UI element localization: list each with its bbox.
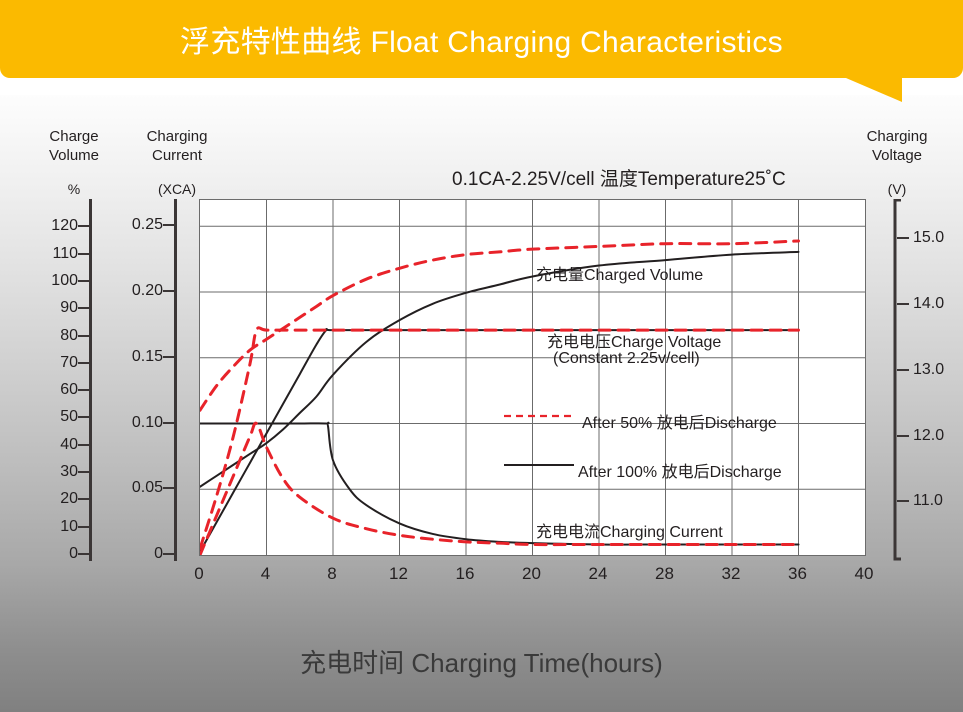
left-axis1-title: Charge Volume bbox=[24, 127, 124, 165]
x-axis-tick-label: 20 bbox=[522, 564, 541, 584]
left-axis2-title: Charging Current bbox=[127, 127, 227, 165]
right-axis-unit: (V) bbox=[872, 181, 922, 197]
left-axis2-title-line1: Charging bbox=[127, 127, 227, 146]
axis-tick bbox=[163, 553, 175, 555]
series-curve bbox=[200, 241, 799, 410]
axis-tick bbox=[163, 422, 175, 424]
condition-label: 0.1CA-2.25V/cell 温度Temperature25˚C bbox=[452, 164, 786, 191]
x-axis-tick-label: 4 bbox=[261, 564, 270, 584]
axis-tick-label: 0 bbox=[32, 545, 78, 563]
axis-tick-label: 80 bbox=[32, 327, 78, 345]
legend-swatch-100-icon bbox=[504, 462, 574, 468]
axis-tick bbox=[897, 435, 909, 437]
axis-tick bbox=[163, 290, 175, 292]
axis-tick-label: 0.25 bbox=[117, 216, 163, 234]
annotation-charge-voltage-line1: 充电电压Charge Voltage bbox=[547, 328, 721, 352]
axis-tick-label: 70 bbox=[32, 354, 78, 372]
left-axis1-title-line2: Volume bbox=[24, 146, 124, 165]
x-axis-tick-label: 28 bbox=[655, 564, 674, 584]
right-axis-title-line1: Charging bbox=[845, 127, 949, 146]
left-axis1-unit: % bbox=[44, 181, 104, 197]
axis-tick-label: 0.10 bbox=[117, 414, 163, 432]
axis-tick bbox=[78, 498, 90, 500]
axis-tick-label: 60 bbox=[32, 381, 78, 399]
axis-tick-label: 20 bbox=[32, 490, 78, 508]
axis-tick-label: 0.15 bbox=[117, 348, 163, 366]
axis-tick bbox=[897, 500, 909, 502]
x-axis-tick-label: 0 bbox=[194, 564, 203, 584]
axis-tick bbox=[78, 253, 90, 255]
chart-page: 浮充特性曲线 Float Charging Characteristics Ch… bbox=[0, 0, 963, 712]
axis-tick bbox=[78, 471, 90, 473]
axis-tick bbox=[78, 444, 90, 446]
annotation-charged-volume: 充电量Charged Volume bbox=[536, 261, 703, 285]
legend-label-after-100: After 100% 放电后Discharge bbox=[578, 458, 782, 482]
plot-area bbox=[199, 199, 866, 556]
header-banner-inner: 浮充特性曲线 Float Charging Characteristics bbox=[0, 0, 963, 78]
plot-canvas bbox=[200, 200, 865, 555]
axis-tick-label: 0 bbox=[117, 545, 163, 563]
axis-tick bbox=[78, 280, 90, 282]
left-axis2-line bbox=[174, 199, 177, 561]
axis-tick-label: 11.0 bbox=[913, 492, 943, 510]
axis-tick-label: 120 bbox=[32, 217, 78, 235]
axis-tick bbox=[78, 335, 90, 337]
axis-tick-label: 13.0 bbox=[913, 361, 944, 379]
axis-tick-label: 0.05 bbox=[117, 479, 163, 497]
axis-tick-label: 10 bbox=[32, 518, 78, 536]
left-axis2-title-line2: Current bbox=[127, 146, 227, 165]
x-axis-tick-label: 40 bbox=[855, 564, 874, 584]
annotation-charge-voltage-line2: (Constant 2.25v/cell) bbox=[553, 350, 700, 368]
axis-tick bbox=[163, 487, 175, 489]
axis-tick-label: 15.0 bbox=[913, 229, 944, 247]
x-axis-tick-label: 24 bbox=[589, 564, 608, 584]
x-axis-title: 充电时间 Charging Time(hours) bbox=[0, 643, 963, 680]
x-axis-tick-label: 32 bbox=[722, 564, 741, 584]
x-axis-tick-label: 36 bbox=[788, 564, 807, 584]
axis-tick bbox=[897, 369, 909, 371]
axis-tick bbox=[78, 416, 90, 418]
axis-tick bbox=[163, 356, 175, 358]
axis-tick bbox=[78, 526, 90, 528]
axis-tick-label: 40 bbox=[32, 436, 78, 454]
axis-tick-label: 30 bbox=[32, 463, 78, 481]
axis-tick bbox=[78, 307, 90, 309]
axis-tick-label: 110 bbox=[32, 245, 78, 263]
axis-tick-label: 100 bbox=[32, 272, 78, 290]
series-curve bbox=[200, 328, 799, 549]
axis-tick bbox=[78, 362, 90, 364]
x-axis-tick-label: 16 bbox=[456, 564, 475, 584]
right-axis-title: Charging Voltage bbox=[845, 127, 949, 165]
banner-tail-icon bbox=[840, 76, 910, 102]
annotation-charging-current: 充电电流Charging Current bbox=[536, 518, 723, 542]
legend-swatch-50-icon bbox=[504, 413, 574, 419]
axis-tick bbox=[897, 237, 909, 239]
axis-tick-label: 12.0 bbox=[913, 427, 944, 445]
axis-tick bbox=[78, 225, 90, 227]
left-axis1-title-line1: Charge bbox=[24, 127, 124, 146]
axis-tick bbox=[78, 553, 90, 555]
left-axis2-unit: (XCA) bbox=[146, 181, 208, 197]
axis-tick bbox=[163, 224, 175, 226]
axis-tick bbox=[897, 303, 909, 305]
axis-tick bbox=[78, 389, 90, 391]
legend-label-after-50: After 50% 放电后Discharge bbox=[582, 409, 777, 433]
axis-tick-label: 14.0 bbox=[913, 295, 944, 313]
axis-tick-label: 90 bbox=[32, 299, 78, 317]
axis-tick-label: 0.20 bbox=[117, 282, 163, 300]
axis-tick-label: 50 bbox=[32, 408, 78, 426]
right-axis-title-line2: Voltage bbox=[845, 146, 949, 165]
x-axis-tick-label: 12 bbox=[389, 564, 408, 584]
right-axis-line bbox=[893, 199, 903, 561]
x-axis-tick-label: 8 bbox=[327, 564, 336, 584]
series-curve bbox=[200, 252, 799, 487]
page-title: 浮充特性曲线 Float Charging Characteristics bbox=[180, 17, 783, 61]
